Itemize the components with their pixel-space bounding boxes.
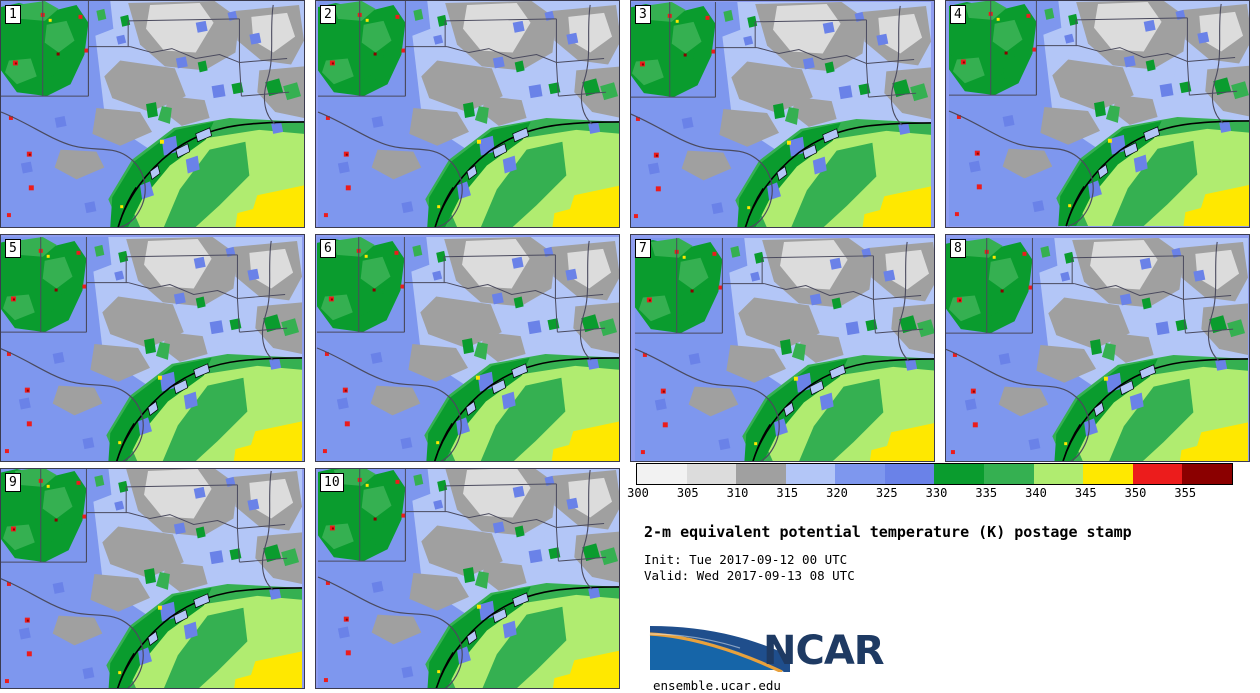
stamp-number-10: 10 [320,473,344,492]
colorbar-tick-335: 335 [975,486,997,500]
map-field-3 [631,1,934,227]
stamp-number-9: 9 [5,473,21,492]
stamp-number-7: 7 [635,239,651,258]
colorbar-tick-325: 325 [876,486,898,500]
colorbar-swatch-345 [1083,464,1133,484]
colorbar-swatch-350 [1133,464,1183,484]
colorbar-tick-310: 310 [727,486,749,500]
stamp-panel-9[interactable]: 9 [0,468,305,689]
stamp-panel-3[interactable]: 3 [630,0,935,228]
figure-title: 2-m equivalent potential temperature (K)… [644,523,1132,541]
stamp-panel-2[interactable]: 2 [315,0,620,228]
stamp-number-8: 8 [950,239,966,258]
stamp-panel-1[interactable]: 1 [0,0,305,228]
stamp-number-6: 6 [320,239,336,258]
ensemble-url-label: ensemble.ucar.edu [653,678,781,693]
map-field-8 [946,235,1249,461]
valid-time-label: Valid: Wed 2017-09-13 08 UTC [644,568,855,583]
colorbar-tick-345: 345 [1075,486,1097,500]
map-field-5 [1,235,304,461]
colorbar-swatch-330 [934,464,984,484]
map-field-7 [631,235,934,461]
map-field-1 [1,1,304,227]
colorbar-swatch-315 [786,464,836,484]
init-time-label: Init: Tue 2017-09-12 00 UTC [644,552,847,567]
stamp-panel-8[interactable]: 8 [945,234,1250,462]
colorbar-swatch-335 [984,464,1034,484]
colorbar-swatch-300 [637,464,687,484]
stamp-panel-6[interactable]: 6 [315,234,620,462]
stamp-panel-10[interactable]: 10 [315,468,620,689]
colorbar-tick-320: 320 [826,486,848,500]
stamp-number-1: 1 [5,5,21,24]
stamp-number-5: 5 [5,239,21,258]
map-field-4 [946,1,1249,227]
colorbar-tick-300: 300 [627,486,649,500]
colorbar-swatch-320 [835,464,885,484]
colorbar-tick-315: 315 [776,486,798,500]
ncar-logo[interactable]: NCAR ensemble.ucar.edu [648,622,948,684]
stamp-number-4: 4 [950,5,966,24]
colorbar-tick-355: 355 [1174,486,1196,500]
stamp-panel-5[interactable]: 5 [0,234,305,462]
stamp-panel-4[interactable]: 4 [945,0,1250,228]
map-field-2 [316,1,619,227]
map-field-9 [1,469,304,688]
colorbar-tick-330: 330 [926,486,948,500]
stamp-panel-7[interactable]: 7 [630,234,935,462]
colorbar-area: 300305310315320325330335340345350355 [636,463,1236,502]
colorbar-swatch-340 [1034,464,1084,484]
stamp-number-2: 2 [320,5,336,24]
colorbar-swatch-325 [885,464,935,484]
colorbar-tick-340: 340 [1025,486,1047,500]
stamp-number-3: 3 [635,5,651,24]
colorbar-tick-350: 350 [1125,486,1147,500]
ncar-wordmark: NCAR [763,628,884,674]
colorbar [636,463,1233,485]
colorbar-swatch-310 [736,464,786,484]
colorbar-tick-305: 305 [677,486,699,500]
map-field-10 [316,469,619,688]
colorbar-swatch-355 [1182,464,1232,484]
colorbar-swatch-305 [687,464,737,484]
colorbar-tick-labels: 300305310315320325330335340345350355 [636,486,1233,502]
map-field-6 [316,235,619,461]
postage-stamp-figure: 1 2 3 4 5 6 7 [0,0,1260,689]
